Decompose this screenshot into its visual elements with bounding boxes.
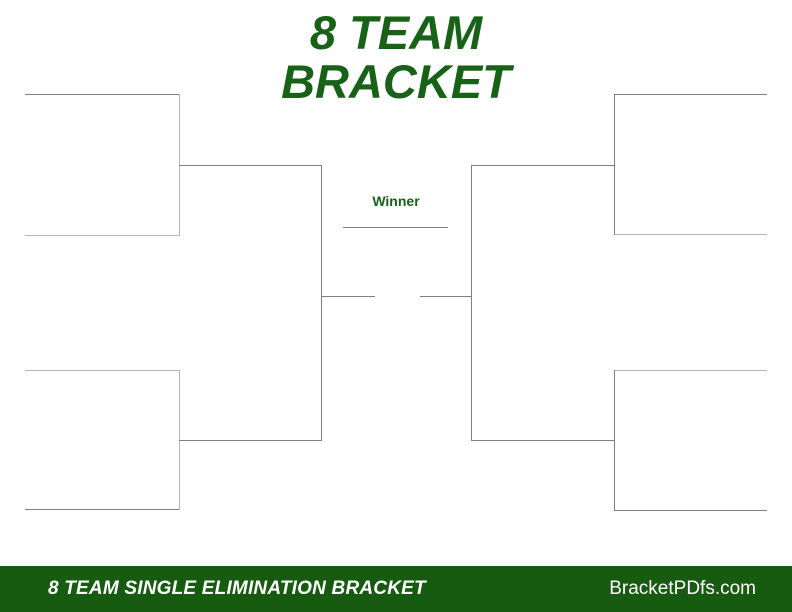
team-slot-left-semi-1[interactable] — [179, 165, 322, 166]
bracket-connector-left-final — [321, 165, 322, 441]
team-slot-final-right[interactable] — [420, 296, 472, 297]
bracket-page: 8 TEAM BRACKET Winner 8 TEAM SINGLE ELIM… — [0, 0, 792, 612]
team-slot-left-2[interactable] — [25, 235, 179, 236]
winner-slot[interactable] — [343, 227, 448, 228]
team-slot-left-3[interactable] — [25, 370, 179, 371]
team-slot-right-3[interactable] — [614, 370, 767, 371]
team-slot-right-semi-2[interactable] — [471, 440, 615, 441]
winner-label: Winner — [344, 193, 448, 209]
footer-site-link[interactable]: BracketPDfs.com — [609, 577, 756, 600]
footer-bar: 8 TEAM SINGLE ELIMINATION BRACKET Bracke… — [0, 566, 792, 612]
team-slot-left-1[interactable] — [25, 94, 179, 95]
team-slot-right-semi-1[interactable] — [471, 165, 615, 166]
team-slot-left-4[interactable] — [25, 509, 179, 510]
bracket-connector-right-final — [471, 165, 472, 441]
team-slot-right-4[interactable] — [614, 510, 767, 511]
team-slot-final-left[interactable] — [321, 296, 375, 297]
team-slot-left-semi-2[interactable] — [179, 440, 322, 441]
team-slot-right-2[interactable] — [614, 234, 767, 235]
footer-title: 8 TEAM SINGLE ELIMINATION BRACKET — [48, 577, 426, 600]
page-title: 8 TEAM BRACKET — [0, 8, 792, 106]
team-slot-right-1[interactable] — [614, 94, 767, 95]
